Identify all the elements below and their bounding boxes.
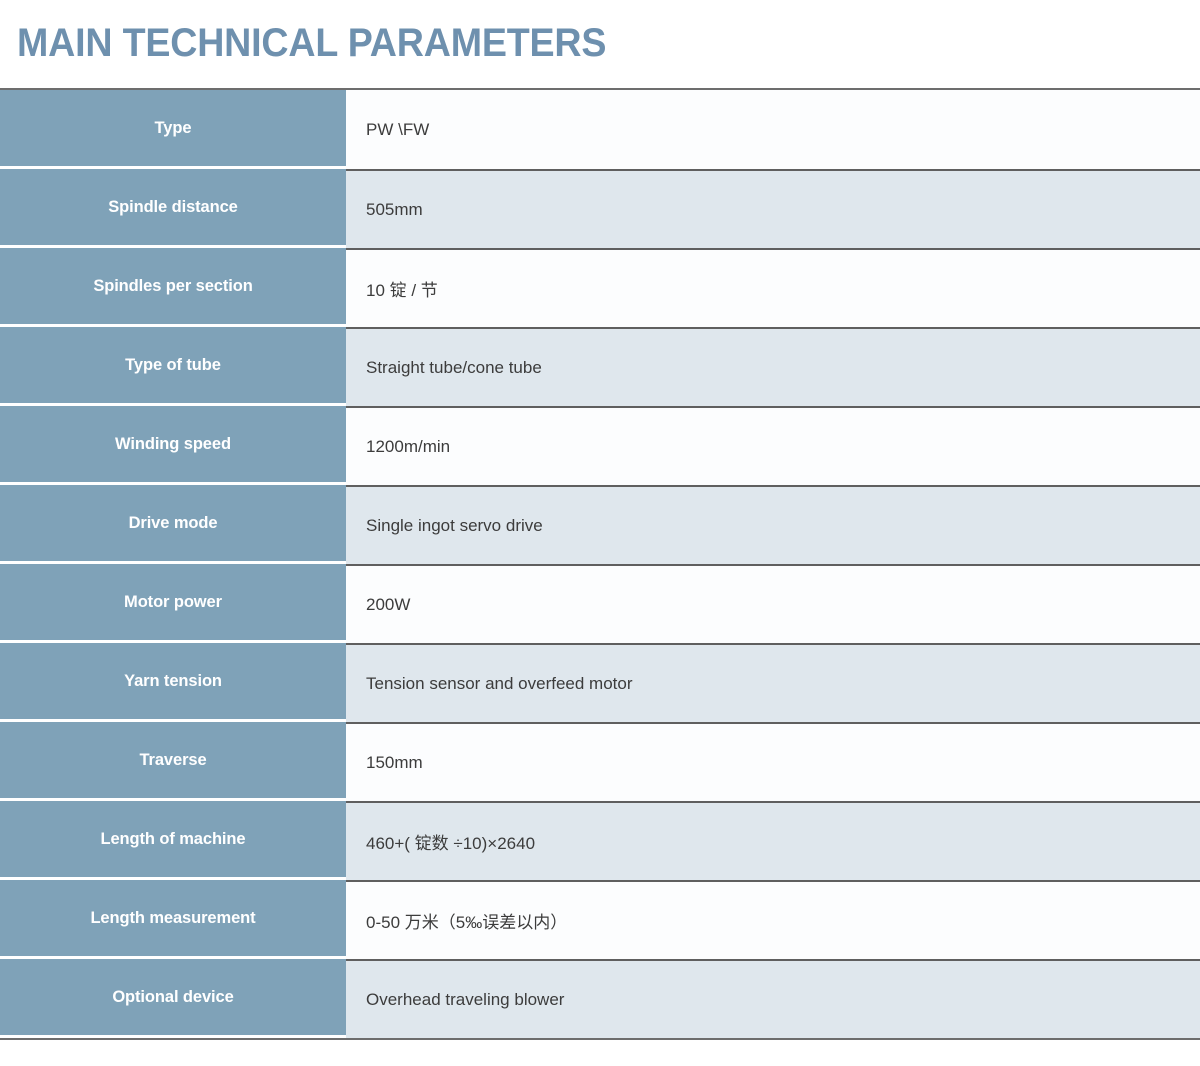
- table-row: Motor power200W: [0, 564, 1200, 643]
- spec-value: PW \FW: [346, 90, 1200, 169]
- spec-value: 1200m/min: [346, 406, 1200, 485]
- spec-value: 505mm: [346, 169, 1200, 248]
- spec-value: 200W: [346, 564, 1200, 643]
- spec-value: Single ingot servo drive: [346, 485, 1200, 564]
- table-row: Length of machine 460+( 锭数 ÷10)×2640: [0, 801, 1200, 880]
- table-row: Drive modeSingle ingot servo drive: [0, 485, 1200, 564]
- table-row: Optional deviceOverhead traveling blower: [0, 959, 1200, 1038]
- spec-label: Length of machine: [0, 801, 346, 880]
- spec-value: 0-50 万米（5‰误差以内）: [346, 880, 1200, 959]
- table-row: Type of tubeStraight tube/cone tube: [0, 327, 1200, 406]
- table-row: Yarn tensionTension sensor and overfeed …: [0, 643, 1200, 722]
- spec-label: Type: [0, 90, 346, 169]
- spec-label: Drive mode: [0, 485, 346, 564]
- spec-label: Optional device: [0, 959, 346, 1038]
- spec-label: Traverse: [0, 722, 346, 801]
- spec-value: Tension sensor and overfeed motor: [346, 643, 1200, 722]
- spec-value: Overhead traveling blower: [346, 959, 1200, 1038]
- table-row: Traverse150mm: [0, 722, 1200, 801]
- spec-label: Winding speed: [0, 406, 346, 485]
- spec-label: Spindle distance: [0, 169, 346, 248]
- spec-value: 150mm: [346, 722, 1200, 801]
- spec-value: 10 锭 / 节: [346, 248, 1200, 327]
- spec-value: 460+( 锭数 ÷10)×2640: [346, 801, 1200, 880]
- spec-value: Straight tube/cone tube: [346, 327, 1200, 406]
- table-row: Length measurement0-50 万米（5‰误差以内）: [0, 880, 1200, 959]
- table-row: Spindle distance505mm: [0, 169, 1200, 248]
- table-row: Spindles per section10 锭 / 节: [0, 248, 1200, 327]
- table-row: Winding speed1200m/min: [0, 406, 1200, 485]
- page-title: MAIN TECHNICAL PARAMETERS: [17, 18, 606, 68]
- spec-label: Length measurement: [0, 880, 346, 959]
- specifications-table: TypePW \FWSpindle distance505mmSpindles …: [0, 88, 1200, 1040]
- spec-label: Spindles per section: [0, 248, 346, 327]
- spec-sheet-page: MAIN TECHNICAL PARAMETERS TypePW \FWSpin…: [0, 0, 1200, 1066]
- spec-label: Type of tube: [0, 327, 346, 406]
- spec-label: Yarn tension: [0, 643, 346, 722]
- table-bottom-rule: [0, 1038, 1200, 1040]
- table-row: TypePW \FW: [0, 90, 1200, 169]
- spec-label: Motor power: [0, 564, 346, 643]
